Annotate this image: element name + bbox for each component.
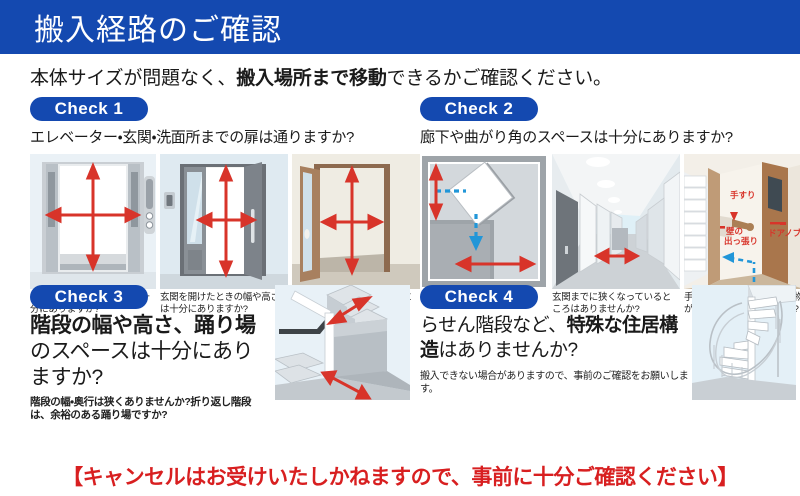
- check-1-badge: Check 1: [30, 97, 148, 121]
- entrance-door-illustration: [160, 154, 288, 289]
- check-1-heading: エレベーター・玄関・洗面所までの扉は通りますか?: [30, 126, 420, 147]
- check-4-badge: Check 4: [420, 285, 538, 309]
- check-4-heading-plain-2: はありませんか?: [439, 340, 578, 361]
- check-3-note: 階段の幅・奥行は狭くありませんか?折り返し階段は、余裕のある踊り場ですか?: [30, 396, 270, 422]
- subtitle-part-1: 本体サイズが問題なく、: [30, 68, 236, 89]
- check-2-section: Check 2 廊下や曲がり角のスペースは十分にありますか?: [420, 97, 800, 315]
- wall-bump-label-line1: 壁の: [726, 226, 743, 236]
- top-view-illustration: [420, 154, 548, 289]
- check-1-section: Check 1 エレベーター・玄関・洗面所までの扉は通りますか?: [30, 97, 420, 315]
- hallway-illustration: [552, 154, 680, 289]
- footer-banner: 【キャンセルはお受けいたしかねますので、事前に十分ご確認ください】: [0, 456, 800, 496]
- wall-bump-label-line2: 出っ張り: [724, 236, 758, 246]
- check-4-note: 搬入できない場合がありますので、事前のご確認をお願いします。: [420, 370, 690, 396]
- check-3-heading: 階段の幅や高さ、踊り場のスペースは十分にありますか?: [30, 313, 270, 391]
- infographic-page: 搬入経路のご確認 本体サイズが問題なく、搬入場所まで移動できるかご確認ください。…: [0, 0, 800, 496]
- check-2-badge: Check 2: [420, 97, 538, 121]
- check-2-heading: 廊下や曲がり角のスペースは十分にありますか?: [420, 126, 800, 147]
- subtitle-emphasis: 搬入場所まで移動: [236, 68, 386, 89]
- check-4-heading-plain-1: らせん階段など、: [420, 315, 567, 336]
- check-3-heading-bold: 階段の幅や高さ、踊り場: [30, 314, 256, 337]
- check-3-heading-plain: のスペースは十分にありますか?: [30, 340, 253, 389]
- check-3-section: Check 3 階段の幅や高さ、踊り場のスペースは十分にありますか? 階段の幅・…: [30, 285, 270, 422]
- subtitle: 本体サイズが問題なく、搬入場所まで移動できるかご確認ください。: [30, 63, 800, 90]
- page-title: 搬入経路のご確認: [0, 5, 282, 49]
- check-4-section: Check 4 らせん階段など、特殊な住居構造はありませんか? 搬入できない場合…: [420, 285, 690, 396]
- protrusions-illustration: 手すり 壁の 出っ張り ドアノブ: [684, 154, 800, 289]
- elevator-illustration: [30, 154, 156, 289]
- panel-staircase-landing: [275, 285, 410, 400]
- staircase-illustration: [275, 285, 410, 400]
- spiral-staircase-illustration: [692, 285, 796, 400]
- bottom-row: Check 3 階段の幅や高さ、踊り場のスペースは十分にありますか? 階段の幅・…: [0, 285, 800, 405]
- check-3-badge: Check 3: [30, 285, 148, 309]
- top-row: Check 1 エレベーター・玄関・洗面所までの扉は通りますか?: [0, 97, 800, 279]
- handrail-label: 手すり: [730, 190, 756, 200]
- subtitle-part-2: できるかご確認ください。: [387, 68, 612, 89]
- panel-spiral-staircase: [692, 285, 796, 400]
- footer-warning-text: 【キャンセルはお受けいたしかねますので、事前に十分ご確認ください】: [62, 461, 738, 491]
- check-4-heading: らせん階段など、特殊な住居構造はありませんか?: [420, 313, 690, 363]
- page-header: 搬入経路のご確認: [0, 0, 800, 54]
- doorknob-label: ドアノブ: [768, 228, 800, 238]
- interior-door-illustration: [292, 154, 420, 289]
